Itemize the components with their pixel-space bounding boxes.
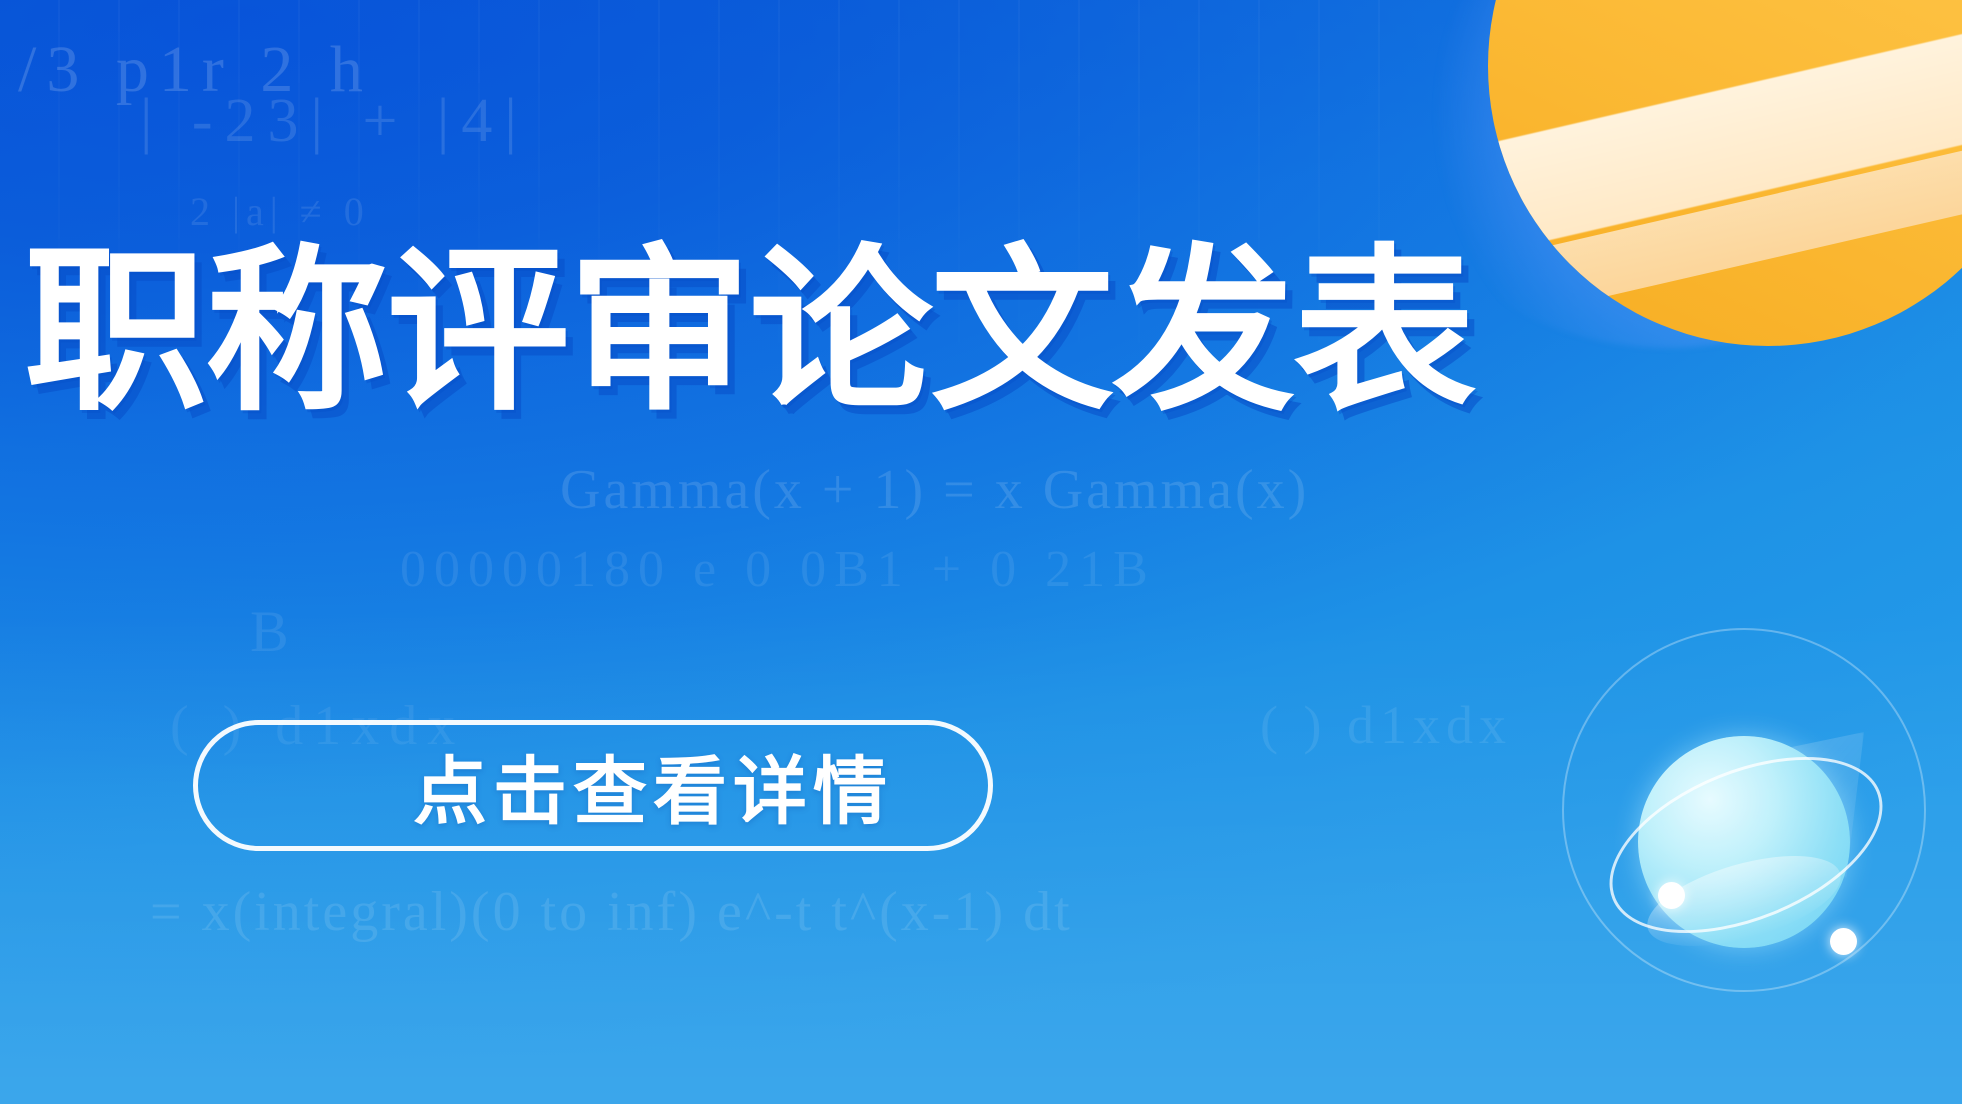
atom-orbit-icon (1546, 606, 1962, 1026)
background-sheen-top (0, 0, 1962, 1104)
watermark-formula-9: ( ) d1xdx (1260, 694, 1512, 756)
watermark-formula-2: | -23| + |4| (140, 86, 529, 157)
atom-electron-right (1830, 928, 1857, 955)
view-details-button-label: 点击查看详情 (293, 732, 893, 839)
watermark-formula-8: = x(integral)(0 to inf) e^-t t^(x-1) dt (150, 880, 1073, 944)
watermark-formula-6: B (250, 598, 305, 665)
watermark-formula-3: 2 |a| ≠ 0 (190, 188, 370, 235)
watermark-formula-4: Gamma(x + 1) = x Gamma(x) (560, 458, 1309, 522)
page-title: 职称评审论文发表 (24, 243, 1474, 421)
planet-ring-band-dark (1488, 114, 1962, 336)
atom-light-wedge (1738, 732, 1864, 878)
atom-outer-ring (1562, 628, 1926, 992)
view-details-button[interactable]: 点击查看详情 (193, 720, 993, 851)
planet-body (1488, 0, 1962, 346)
promo-banner: /3 p1r 2 h | -23| + |4| 2 |a| ≠ 0 000001… (0, 0, 1962, 1104)
planet-ring-band-light (1488, 0, 1962, 266)
background-sheen-bottom (0, 0, 1962, 1104)
atom-electron-left (1658, 882, 1685, 909)
watermark-formula-1: /3 p1r 2 h (18, 32, 373, 108)
atom-orbit-ellipse (1584, 722, 1907, 969)
atom-core-sphere (1638, 736, 1850, 948)
watermark-formula-5: 00000180 e 0 0B1 + 0 21B (400, 540, 1156, 599)
